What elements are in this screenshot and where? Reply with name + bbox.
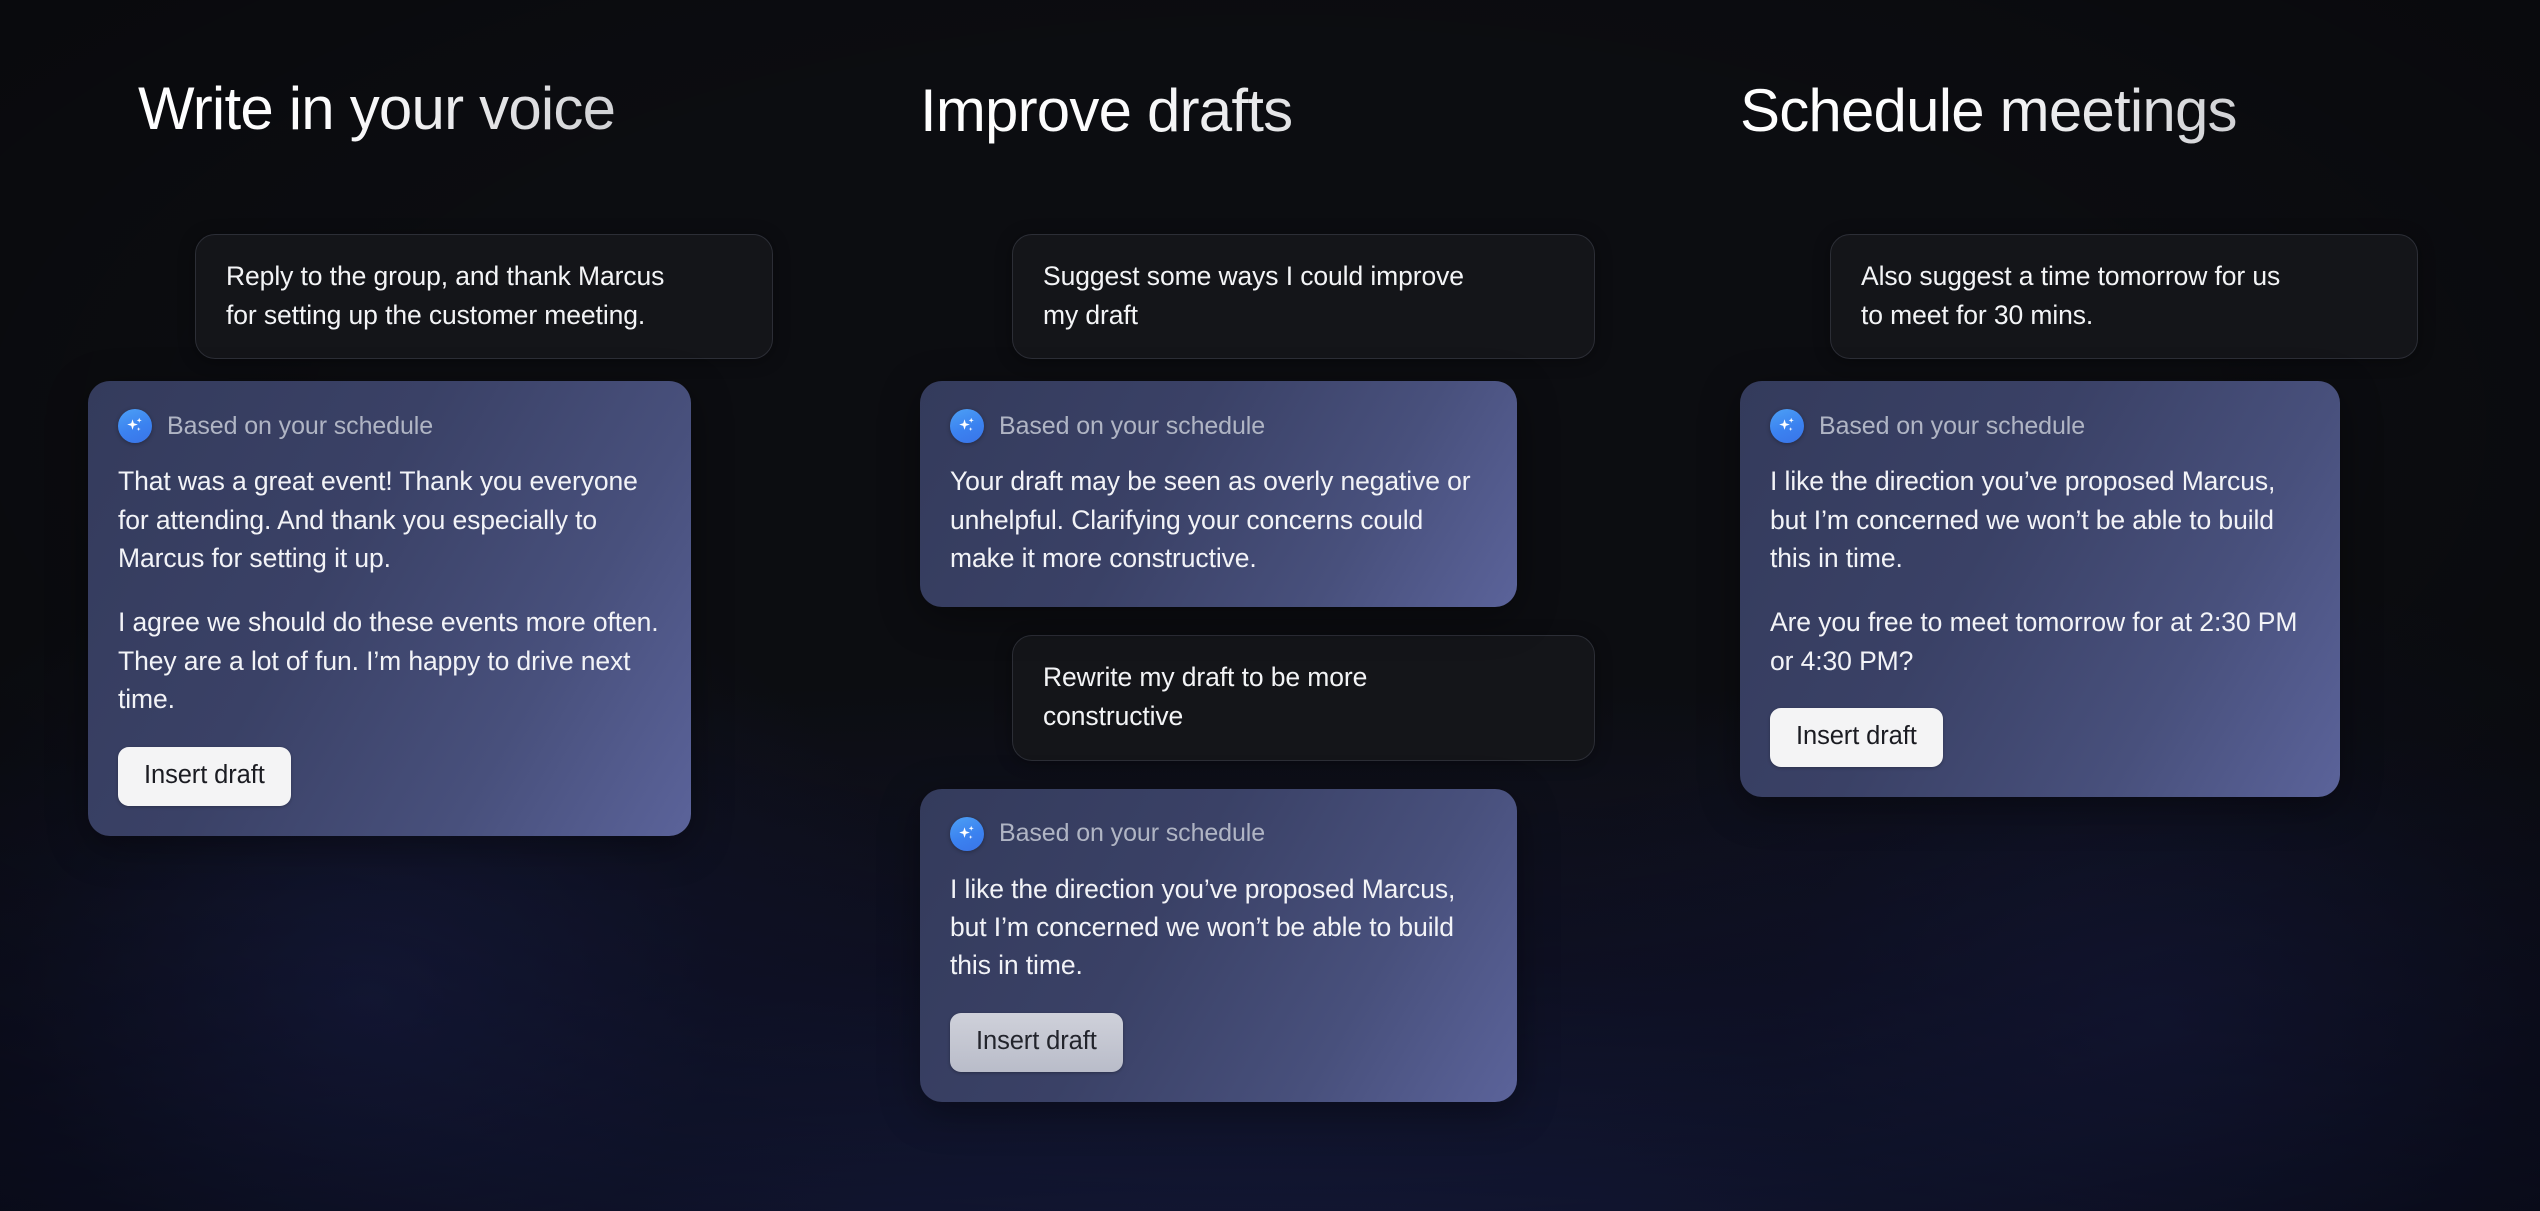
card-header-label: Based on your schedule [999, 412, 1265, 441]
user-prompt-line: Also suggest a time tomorrow for us [1861, 258, 2387, 295]
user-prompt-bubble[interactable]: Suggest some ways I could improve my dra… [1012, 234, 1595, 359]
response-paragraph: I like the direction you’ve proposed Mar… [950, 870, 1487, 985]
insert-draft-button[interactable]: Insert draft [1770, 708, 1943, 767]
response-paragraph: Your draft may be seen as overly negativ… [950, 462, 1487, 577]
assistant-response-text: That was a great event! Thank you everyo… [118, 462, 661, 719]
feature-column-write-in-your-voice: Write in your voice Reply to the group, … [88, 0, 828, 836]
assistant-response-card: Based on your schedule That was a great … [88, 381, 691, 836]
assistant-response-text: I like the direction you’ve proposed Mar… [1770, 462, 2310, 680]
page-title: Schedule meetings [1740, 78, 2460, 144]
assistant-response-text: Your draft may be seen as overly negativ… [950, 462, 1487, 577]
card-header: Based on your schedule [950, 409, 1487, 443]
response-paragraph: Are you free to meet tomorrow for at 2:3… [1770, 603, 2310, 680]
sparkle-icon [118, 409, 152, 443]
sparkle-icon [1770, 409, 1804, 443]
response-paragraph: That was a great event! Thank you everyo… [118, 462, 661, 577]
sparkle-icon [950, 409, 984, 443]
user-prompt-line: Suggest some ways I could improve [1043, 258, 1564, 295]
assistant-response-card: Based on your schedule I like the direct… [1740, 381, 2340, 797]
page-title: Improve drafts [920, 78, 1620, 144]
user-prompt-line: constructive [1043, 698, 1564, 735]
card-header: Based on your schedule [118, 409, 661, 443]
feature-column-schedule-meetings: Schedule meetings Also suggest a time to… [1740, 0, 2460, 797]
user-prompt-bubble[interactable]: Also suggest a time tomorrow for us to m… [1830, 234, 2418, 359]
user-prompt-bubble[interactable]: Reply to the group, and thank Marcus for… [195, 234, 773, 359]
sparkle-icon [950, 817, 984, 851]
user-prompt-line: my draft [1043, 297, 1564, 334]
card-header-label: Based on your schedule [167, 412, 433, 441]
user-prompt-bubble[interactable]: Rewrite my draft to be more constructive [1012, 635, 1595, 760]
card-header: Based on your schedule [1770, 409, 2310, 443]
card-header: Based on your schedule [950, 817, 1487, 851]
insert-draft-button[interactable]: Insert draft [118, 747, 291, 806]
response-paragraph: I like the direction you’ve proposed Mar… [1770, 462, 2310, 577]
card-header-label: Based on your schedule [1819, 412, 2085, 441]
response-paragraph: I agree we should do these events more o… [118, 603, 661, 718]
feature-column-improve-drafts: Improve drafts Suggest some ways I could… [920, 0, 1620, 1102]
assistant-response-card: Based on your schedule Your draft may be… [920, 381, 1517, 607]
user-prompt-line: Reply to the group, and thank Marcus [226, 258, 742, 295]
page-title: Write in your voice [138, 76, 828, 142]
user-prompt-line: to meet for 30 mins. [1861, 297, 2387, 334]
assistant-response-text: I like the direction you’ve proposed Mar… [950, 870, 1487, 985]
insert-draft-button[interactable]: Insert draft [950, 1013, 1123, 1072]
assistant-response-card: Based on your schedule I like the direct… [920, 789, 1517, 1102]
user-prompt-line: Rewrite my draft to be more [1043, 659, 1564, 696]
feature-showcase: Write in your voice Reply to the group, … [0, 0, 2540, 1211]
card-header-label: Based on your schedule [999, 819, 1265, 848]
user-prompt-line: for setting up the customer meeting. [226, 297, 742, 334]
